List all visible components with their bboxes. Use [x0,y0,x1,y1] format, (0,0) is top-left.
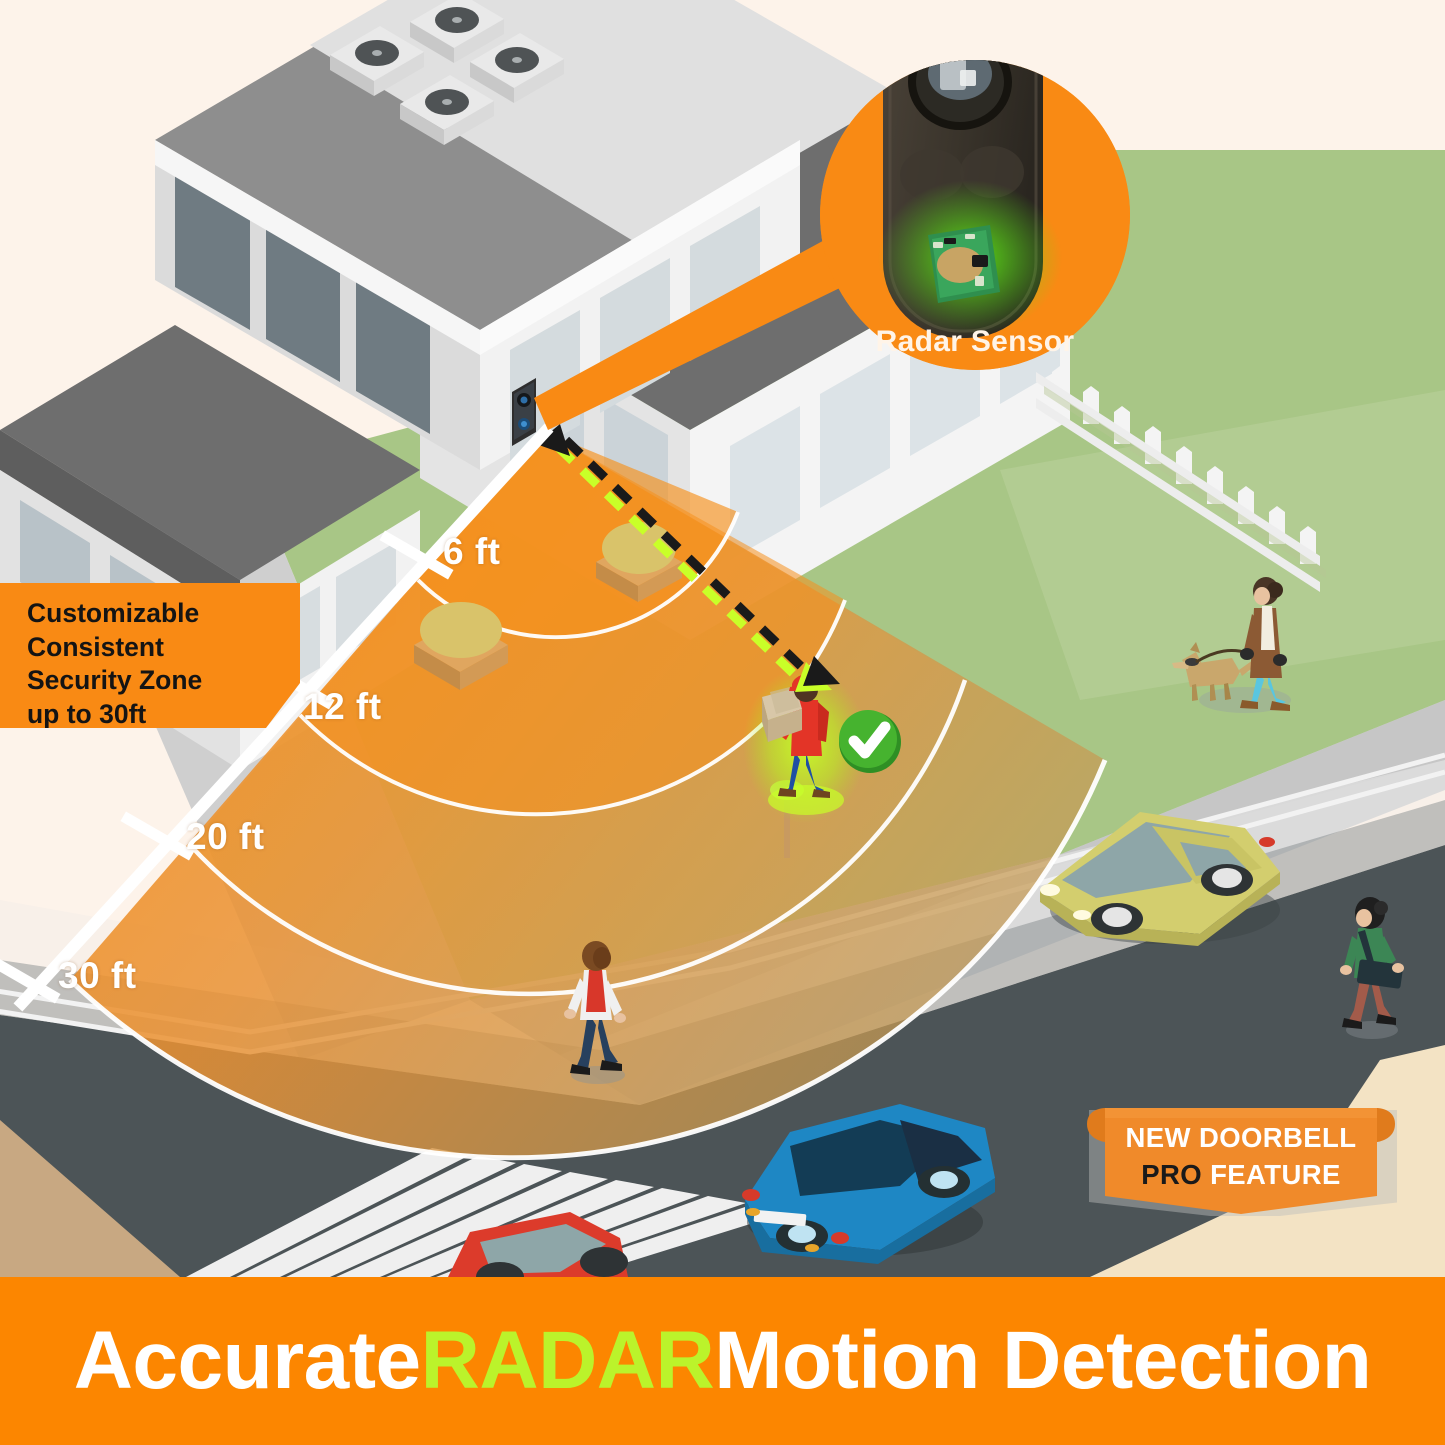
ribbon-line-1: NEW DOORBELL [1085,1122,1397,1154]
banner-headline: Accurate RADAR Motion Detection [0,1277,1445,1445]
zone-line-1: Customizable [27,597,290,631]
ribbon-line-2: PRO FEATURE [1085,1159,1397,1191]
headline-radar-highlight: RADAR [421,1314,715,1408]
distance-label-6ft: 6 ft [443,531,501,573]
zone-line-4: up to 30ft [27,698,290,732]
headline-part-2: Motion Detection [714,1314,1371,1408]
radar-sensor-callout [820,60,1130,370]
ribbon-pro-text: PRO [1141,1159,1202,1190]
bottom-banner: Accurate RADAR Motion Detection [0,1277,1445,1445]
security-zone-callout: Customizable Consistent Security Zone up… [0,583,300,728]
distance-label-20ft: 20 ft [186,816,265,858]
radar-sensor-label: Radar Sensor [820,325,1130,359]
distance-label-30ft: 30 ft [58,955,137,997]
zone-line-3: Security Zone [27,664,290,698]
headline-part-1: Accurate [74,1314,421,1408]
new-feature-ribbon: NEW DOORBELL PRO FEATURE [1085,1096,1397,1216]
zone-line-2: Consistent [27,631,290,665]
distance-label-12ft: 12 ft [303,686,382,728]
ribbon-feature-text: FEATURE [1202,1159,1341,1190]
radar-motion-detection-infographic: Radar Sensor 6 ft 12 ft 20 ft 30 ft Cust… [0,0,1445,1445]
